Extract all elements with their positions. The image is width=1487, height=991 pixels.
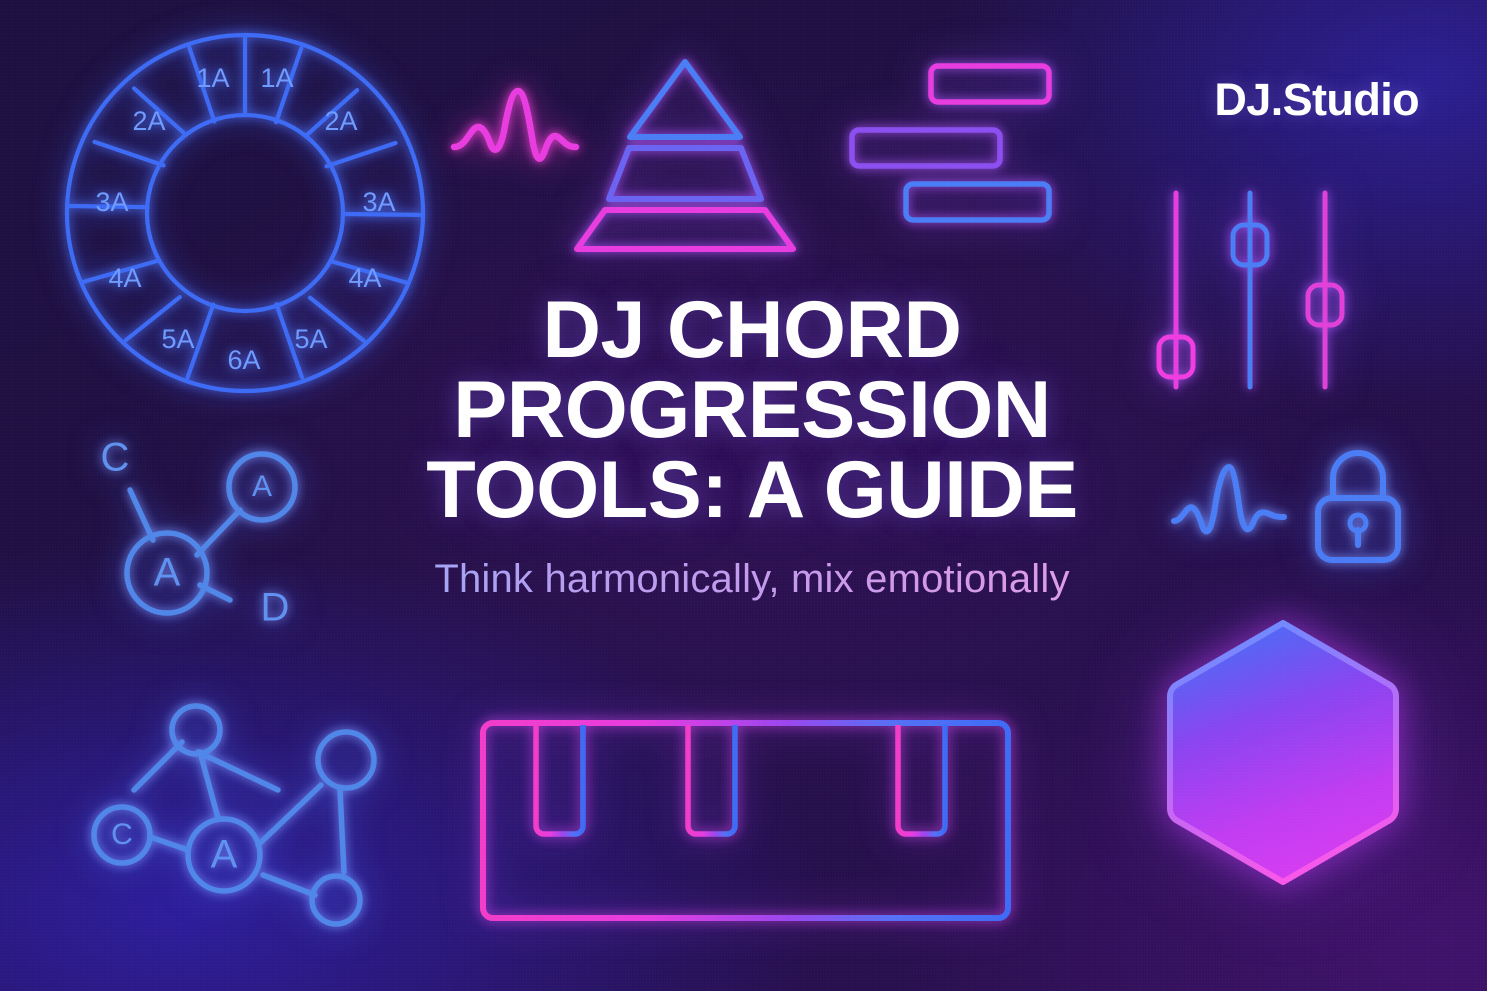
pyramid-layers-icon	[565, 52, 805, 257]
blue-waveform-icon	[1170, 455, 1290, 560]
chord-node-label-D: D	[261, 586, 290, 630]
pink-waveform-icon	[450, 85, 580, 180]
lock-icon[interactable]	[1312, 448, 1404, 568]
fader-sliders-icon[interactable]	[1150, 185, 1350, 395]
hero-text-block: DJ CHORD PROGRESSION TOOLS: A GUIDE Thin…	[352, 290, 1152, 602]
camelot-label-4A-left: 4A	[108, 263, 141, 293]
camelot-label-2A-right: 2A	[324, 106, 357, 136]
camelot-label-1A-right: 1A	[260, 63, 293, 93]
page-subtitle: Think harmonically, mix emotionally	[352, 557, 1152, 602]
page-title-line-3: TOOLS: A GUIDE	[352, 450, 1152, 530]
staggered-bars-icon	[838, 60, 1063, 225]
network-node-label-C: C	[111, 818, 133, 851]
page-title-line-1: DJ CHORD	[352, 290, 1152, 370]
camelot-label-5A-left: 5A	[161, 324, 194, 354]
camelot-label-6A: 6A	[227, 345, 260, 375]
chord-network-graph[interactable]: C A	[78, 690, 388, 940]
camelot-label-3A-right: 3A	[362, 187, 395, 217]
camelot-label-4A-right: 4A	[348, 263, 381, 293]
piano-keyboard[interactable]	[478, 718, 1013, 923]
chord-node-label-C: C	[101, 436, 130, 480]
hexagon-badge	[1158, 615, 1408, 890]
page-title-line-2: PROGRESSION	[352, 370, 1152, 450]
camelot-label-1A-left: 1A	[196, 63, 229, 93]
brand-logo[interactable]: DJ.Studio	[1214, 74, 1419, 126]
chord-node-label-A-center: A	[154, 551, 181, 595]
camelot-label-2A-left: 2A	[132, 106, 165, 136]
chord-node-diagram-small[interactable]: C A A D	[75, 425, 345, 650]
camelot-label-3A-left: 3A	[95, 187, 128, 217]
camelot-label-5A-right: 5A	[294, 324, 327, 354]
poster-canvas: 1A 1A 2A 2A 3A 3A 4A 4A 5A 5A 6A	[0, 0, 1487, 991]
network-node-label-A: A	[211, 833, 238, 877]
chord-node-label-A-top: A	[252, 470, 272, 503]
